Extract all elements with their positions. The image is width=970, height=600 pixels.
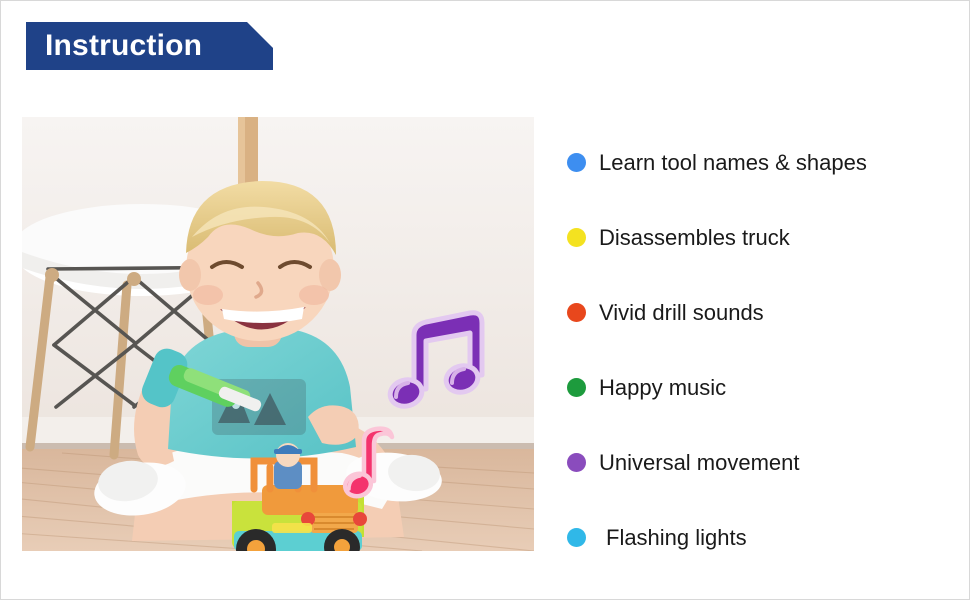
header-banner: Instruction	[26, 22, 273, 70]
list-item: Flashing lights	[567, 500, 959, 575]
list-item: Vivid drill sounds	[567, 275, 959, 350]
feature-label: Universal movement	[599, 450, 800, 476]
feature-label: Flashing lights	[606, 525, 747, 551]
bullet-icon	[567, 378, 586, 397]
bullet-icon	[567, 303, 586, 322]
photo-illustration	[22, 117, 534, 551]
feature-list: Learn tool names & shapes Disassembles t…	[567, 125, 959, 575]
feature-label: Vivid drill sounds	[599, 300, 764, 326]
feature-label: Happy music	[599, 375, 726, 401]
page-title: Instruction	[45, 28, 202, 64]
list-item: Happy music	[567, 350, 959, 425]
bullet-icon	[567, 528, 586, 547]
bullet-icon	[567, 453, 586, 472]
bullet-icon	[567, 228, 586, 247]
list-item: Learn tool names & shapes	[567, 125, 959, 200]
list-item: Universal movement	[567, 425, 959, 500]
feature-label: Learn tool names & shapes	[599, 150, 867, 176]
truck-driver	[274, 443, 302, 489]
feature-label: Disassembles truck	[599, 225, 790, 251]
bullet-icon	[567, 153, 586, 172]
instruction-page: Instruction	[0, 0, 970, 600]
list-item: Disassembles truck	[567, 200, 959, 275]
product-photo	[22, 117, 534, 551]
